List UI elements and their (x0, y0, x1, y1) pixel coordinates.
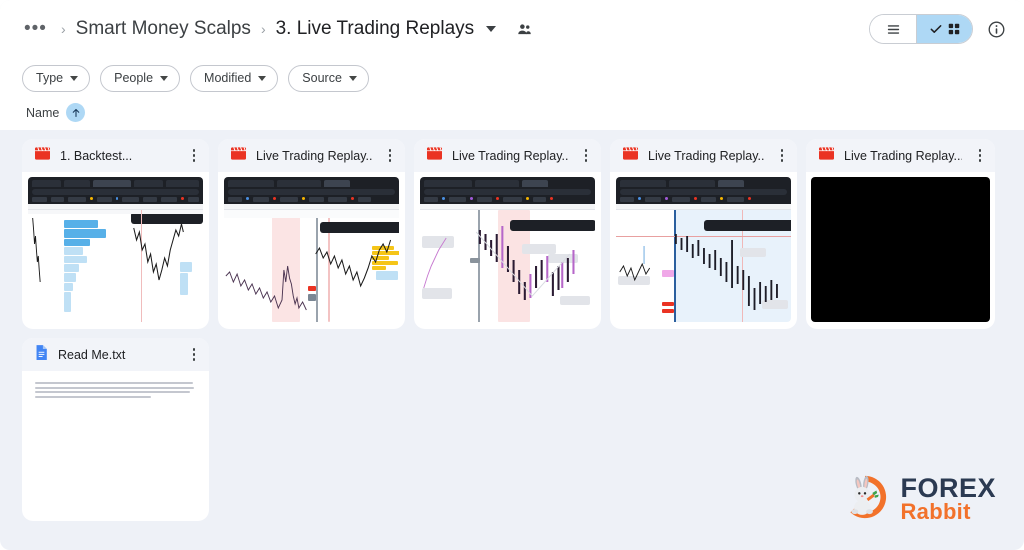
browser-chrome (224, 177, 399, 204)
file-card-header: Live Trading Replay... (806, 139, 995, 172)
file-card[interactable]: Live Trading Replay... (806, 139, 995, 329)
breadcrumb-overflow-button[interactable]: ••• (20, 21, 51, 37)
more-vert-icon[interactable] (185, 145, 203, 167)
breadcrumb-separator: › (61, 21, 66, 37)
chevron-down-icon (70, 76, 78, 81)
more-vert-icon[interactable] (185, 344, 203, 366)
chevron-down-icon[interactable] (486, 26, 496, 32)
more-vert-icon[interactable] (971, 145, 989, 167)
breadcrumb-parent-folder[interactable]: Smart Money Scalps (76, 18, 251, 40)
watermark-text: FOREX Rabbit (900, 476, 996, 523)
file-thumbnail-wrap (22, 371, 209, 521)
file-grid: 1. Backtest... (0, 130, 1024, 521)
file-name: 1. Backtest... (60, 149, 176, 163)
breadcrumb: ••• › Smart Money Scalps › 3. Live Tradi… (20, 18, 869, 40)
video-file-icon (622, 146, 639, 166)
breadcrumb-current-folder[interactable]: 3. Live Trading Replays (276, 18, 475, 40)
more-vert-icon[interactable] (381, 145, 399, 167)
file-card-header: Read Me.txt (22, 338, 209, 371)
filter-chip-label: Source (302, 71, 342, 85)
breadcrumb-separator: › (261, 21, 266, 37)
file-card-header: 1. Backtest... (22, 139, 209, 172)
top-bar: ••• › Smart Money Scalps › 3. Live Tradi… (0, 0, 1024, 58)
filter-chip-label: People (114, 71, 153, 85)
file-card[interactable]: Live Trading Replay... (218, 139, 405, 329)
file-name: Live Trading Replay... (648, 149, 764, 163)
file-name: Live Trading Replay... (452, 149, 568, 163)
filter-chip-label: Type (36, 71, 63, 85)
filter-chip-people[interactable]: People (100, 65, 180, 92)
file-thumbnail-wrap (218, 172, 405, 329)
video-file-icon (34, 146, 51, 166)
grid-view-icon[interactable] (916, 15, 972, 43)
chevron-down-icon (160, 76, 168, 81)
info-circle-icon[interactable] (987, 20, 1006, 39)
file-name: Read Me.txt (58, 348, 176, 362)
chart-preview (28, 210, 203, 322)
file-thumbnail (28, 376, 203, 514)
video-file-icon (818, 146, 835, 166)
top-bar-actions (869, 14, 1006, 44)
file-thumbnail (28, 177, 203, 322)
file-thumbnail (420, 177, 595, 322)
video-file-icon (230, 146, 247, 166)
file-thumbnail (616, 177, 791, 322)
list-view-icon[interactable] (870, 15, 916, 43)
file-thumbnail (811, 177, 990, 322)
text-file-icon (34, 344, 49, 366)
check-icon (929, 22, 943, 36)
rabbit-logo-icon (839, 471, 891, 528)
file-card[interactable]: 1. Backtest... (22, 139, 209, 329)
sort-label[interactable]: Name (26, 106, 59, 120)
browser-chrome (420, 177, 595, 204)
more-vert-icon[interactable] (577, 145, 595, 167)
file-thumbnail-wrap (414, 172, 601, 329)
watermark-logo: FOREX Rabbit (839, 471, 996, 528)
chart-preview (224, 210, 399, 322)
filter-chip-bar: Type People Modified Source (0, 58, 1024, 94)
text-document-preview (28, 376, 203, 514)
browser-chrome (28, 177, 203, 204)
file-thumbnail-wrap (806, 172, 995, 329)
file-card-header: Live Trading Replay... (414, 139, 601, 172)
chart-preview (420, 210, 595, 322)
filter-chip-source[interactable]: Source (288, 65, 369, 92)
file-thumbnail (224, 177, 399, 322)
video-file-icon (426, 146, 443, 166)
people-icon[interactable] (516, 21, 533, 38)
filter-chip-label: Modified (204, 71, 251, 85)
sort-row: Name (0, 94, 1024, 130)
file-card[interactable]: Live Trading Replay... (610, 139, 797, 329)
arrow-up-icon[interactable] (66, 103, 85, 122)
chevron-down-icon (258, 76, 266, 81)
file-name: Live Trading Replay... (256, 149, 372, 163)
filter-chip-type[interactable]: Type (22, 65, 90, 92)
file-browser-page: ••• › Smart Money Scalps › 3. Live Tradi… (0, 0, 1024, 550)
file-card[interactable]: Read Me.txt (22, 338, 209, 521)
chart-preview (616, 210, 791, 322)
filter-chip-modified[interactable]: Modified (190, 65, 278, 92)
file-name: Live Trading Replay... (844, 149, 962, 163)
file-card[interactable]: Live Trading Replay... (414, 139, 601, 329)
file-card-header: Live Trading Replay... (610, 139, 797, 172)
view-mode-toggle[interactable] (869, 14, 973, 44)
file-thumbnail-wrap (22, 172, 209, 329)
browser-chrome (616, 177, 791, 204)
file-thumbnail-wrap (610, 172, 797, 329)
chevron-down-icon (349, 76, 357, 81)
more-vert-icon[interactable] (773, 145, 791, 167)
file-card-header: Live Trading Replay... (218, 139, 405, 172)
watermark-brand-secondary: Rabbit (900, 502, 996, 523)
